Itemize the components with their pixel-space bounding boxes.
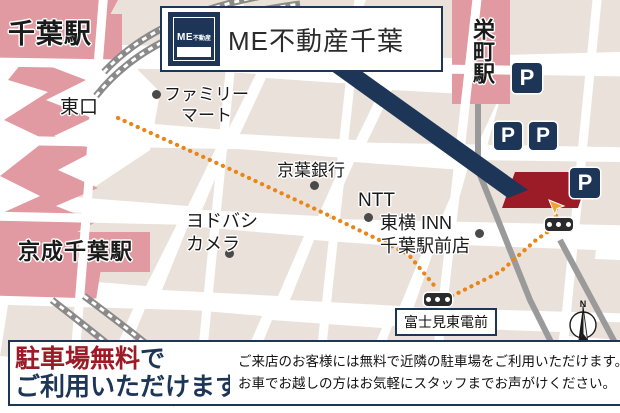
company-logo-mark-icon: ME不動産 — [168, 12, 220, 66]
building-location-arrow-icon — [548, 199, 566, 217]
poi-label-yodobashi: ヨドバシ カメラ — [186, 210, 258, 257]
poi-dot-keiyo-bank — [310, 181, 319, 190]
intersection-label-fujimi-higashiden-mae: 富士見東電前 — [395, 308, 497, 336]
poi-label-toyoko-inn: 東横 INN 千葉駅前店 — [380, 212, 470, 259]
banner-note-line1: ご来店のお客様には無料で近隣の駐車場をご利用いただけます。 — [238, 351, 620, 373]
banner-headline-line1: 駐車場無料で — [15, 345, 230, 373]
banner-headline: 駐車場無料で ご利用いただけます — [8, 340, 230, 406]
station-label-chiba: 千葉駅 — [8, 20, 92, 49]
parking-free-banner: 駐車場無料で ご利用いただけます ご来店のお客様には無料で近隣の駐車場をご利用い… — [8, 340, 612, 406]
poi-dot-ntt — [364, 213, 373, 222]
parking-icon-3[interactable]: P — [529, 122, 557, 150]
traffic-signal-icon-1 — [424, 293, 452, 306]
station-label-sakaecho: 栄町駅 — [462, 18, 502, 90]
poi-dot-familymart — [152, 90, 161, 99]
poi-label-familymart: ファミリー マート — [164, 84, 249, 127]
poi-dot-toyoko-inn — [475, 229, 484, 238]
banner-headline-emphasis: 駐車場無料 — [15, 345, 140, 373]
banner-note: ご来店のお客様には無料で近隣の駐車場をご利用いただけます。 お車でお越しの方はお… — [230, 340, 620, 406]
access-map: 千葉駅 栄町駅 京成千葉駅 東口 ファミリー マート 京葉銀行 NTT 東横 I… — [0, 0, 620, 413]
parking-icon-2[interactable]: P — [494, 122, 522, 150]
company-logo-callout: ME不動産 ME不動産千葉 — [160, 6, 443, 72]
compass-rose: N — [566, 300, 600, 344]
parking-icon-4[interactable]: P — [570, 168, 600, 198]
station-label-keisei-chiba: 京成千葉駅 — [18, 240, 133, 264]
banner-note-line2: お車でお越しの方はお気軽にスタッフまでお声がけください。 — [238, 373, 620, 395]
traffic-signal-icon-2 — [545, 218, 573, 231]
exit-label-east: 東口 — [60, 92, 98, 119]
compass-north-label: N — [580, 299, 587, 309]
logo-mark-text: ME不動産 — [177, 32, 211, 43]
poi-label-keiyo-bank: 京葉銀行 — [277, 156, 345, 181]
poi-label-ntt: NTT — [358, 190, 395, 212]
banner-headline-line2: ご利用いただけます — [15, 373, 230, 401]
parking-icon-1[interactable]: P — [512, 63, 542, 93]
banner-headline-tail: で — [140, 345, 165, 373]
company-name: ME不動産千葉 — [228, 21, 404, 58]
